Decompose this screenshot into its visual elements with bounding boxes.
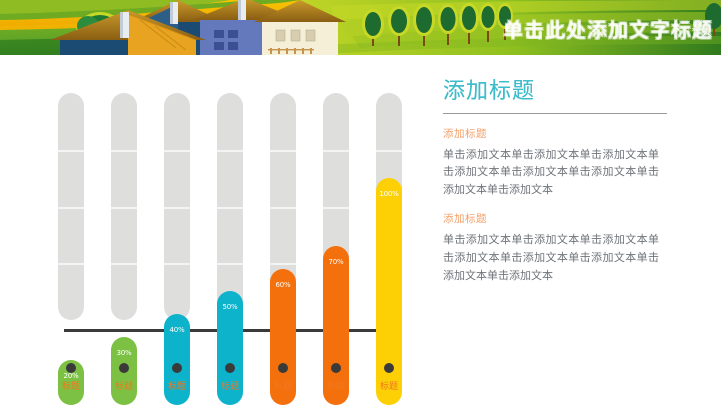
track-segment-divider [164, 263, 190, 265]
axis-dot[interactable] [331, 363, 341, 373]
track-segment-divider [217, 207, 243, 209]
bar-column[interactable]: 40%标题 [164, 93, 190, 405]
track-segment-divider [323, 207, 349, 209]
category-label[interactable]: 标题 [46, 379, 96, 392]
track-segment-divider [376, 150, 402, 152]
category-label[interactable]: 标题 [152, 379, 202, 392]
bar-column[interactable]: 30%标题 [111, 93, 137, 405]
category-label[interactable]: 标题 [311, 379, 361, 392]
track-segment-divider [111, 207, 137, 209]
axis-dot[interactable] [66, 363, 76, 373]
bar-value-label: 30% [111, 349, 137, 357]
bar-value-label: 100% [376, 190, 402, 198]
track-segment-divider [270, 150, 296, 152]
panel-title[interactable]: 添加标题 [443, 78, 709, 106]
bar-value-label: 40% [164, 326, 190, 334]
track-segment-divider [58, 263, 84, 265]
bar-track [111, 93, 137, 320]
category-label[interactable]: 标题 [258, 379, 308, 392]
bar-column[interactable]: 70%标题 [323, 93, 349, 405]
category-label[interactable]: 标题 [205, 379, 255, 392]
bar-track [58, 93, 84, 320]
panel-section-2: 添加标题 单击添加文本单击添加文本单击添加文本单击添加文本单击添加文本单击添加文… [443, 211, 709, 284]
bar-column[interactable]: 50%标题 [217, 93, 243, 405]
category-label[interactable]: 标题 [364, 379, 414, 392]
panel-section-1: 添加标题 单击添加文本单击添加文本单击添加文本单击添加文本单击添加文本单击添加文… [443, 126, 709, 199]
track-segment-divider [270, 263, 296, 265]
track-segment-divider [217, 263, 243, 265]
track-segment-divider [323, 150, 349, 152]
text-panel: 添加标题 添加标题 单击添加文本单击添加文本单击添加文本单击添加文本单击添加文本… [443, 78, 709, 284]
axis-dot[interactable] [278, 363, 288, 373]
axis-dot[interactable] [384, 363, 394, 373]
track-segment-divider [164, 150, 190, 152]
section-heading[interactable]: 添加标题 [443, 126, 709, 141]
bar-column[interactable]: 20%标题 [58, 93, 84, 405]
bar-column[interactable]: 100%标题 [376, 93, 402, 405]
slide-canvas: 单击此处添加文字标题 20%标题30%标题40%标题50%标题60%标题70%标… [0, 0, 721, 405]
track-segment-divider [58, 207, 84, 209]
section-body[interactable]: 单击添加文本单击添加文本单击添加文本单击添加文本单击添加文本单击添加文本单击添加… [443, 231, 659, 284]
axis-dot[interactable] [225, 363, 235, 373]
bar-track [217, 93, 243, 320]
section-heading[interactable]: 添加标题 [443, 211, 709, 226]
track-segment-divider [164, 207, 190, 209]
bar-track [164, 93, 190, 320]
progress-bar-chart: 20%标题30%标题40%标题50%标题60%标题70%标题100%标题 [0, 55, 430, 405]
track-segment-divider [111, 263, 137, 265]
bar-value-label: 50% [217, 303, 243, 311]
axis-dot[interactable] [172, 363, 182, 373]
track-segment-divider [111, 150, 137, 152]
bar-column[interactable]: 60%标题 [270, 93, 296, 405]
bar-value-label: 70% [323, 258, 349, 266]
village-illustration [0, 0, 721, 55]
axis-dot[interactable] [119, 363, 129, 373]
track-segment-divider [217, 150, 243, 152]
track-segment-divider [58, 150, 84, 152]
section-body[interactable]: 单击添加文本单击添加文本单击添加文本单击添加文本单击添加文本单击添加文本单击添加… [443, 146, 659, 199]
track-segment-divider [270, 207, 296, 209]
panel-divider [443, 113, 667, 114]
bar-value-label: 60% [270, 281, 296, 289]
header-banner: 单击此处添加文字标题 [0, 0, 721, 55]
category-label[interactable]: 标题 [99, 379, 149, 392]
